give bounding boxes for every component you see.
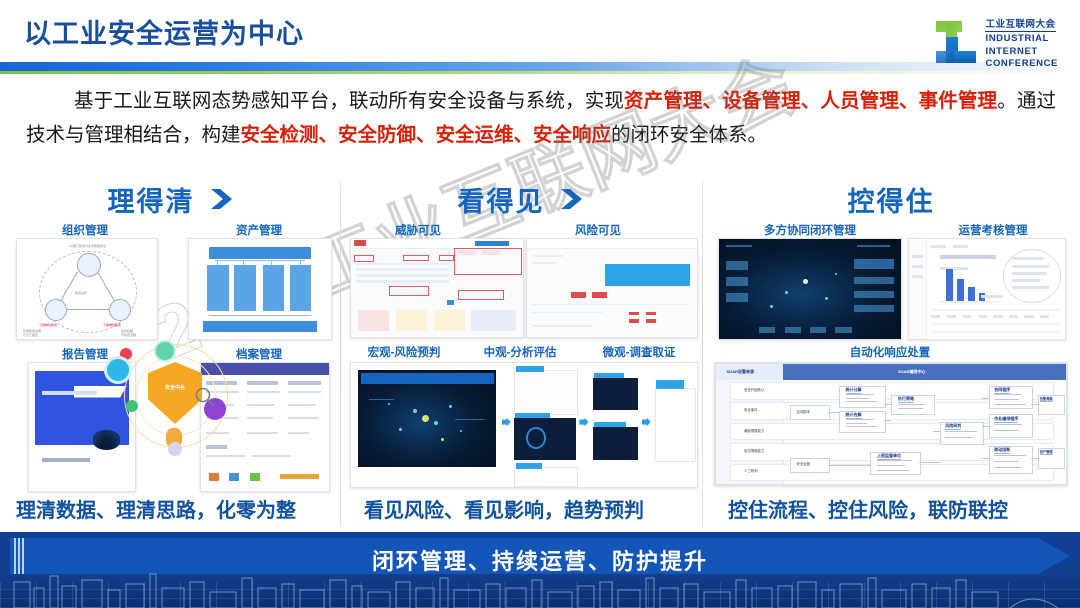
shot-situation-map	[718, 238, 902, 340]
logo-line-internet: INTERNET	[985, 47, 1058, 57]
column-kongdezhu: 控得住 多方协同闭环管理 运营考核管理	[710, 176, 1072, 532]
column-2-header: 看得见	[348, 176, 698, 222]
label-asset-management: 资产管理	[200, 222, 318, 238]
label-micro-forensics: 微观-调查取证	[584, 344, 694, 360]
bottom-banner: 闭环管理、持续运营、防护提升	[0, 532, 1080, 608]
shot-analysis-flow	[350, 362, 698, 488]
tagline-column-3: 控住流程、控住风险，联防联控	[728, 494, 1008, 523]
lead-text-a: 基于工业互联网态势感知平台，联动所有安全设备与系统，实现	[74, 90, 624, 112]
shot-risk-dashboard	[526, 238, 698, 338]
soar-side-item-4: 攻击情报能力	[744, 448, 764, 453]
label-meso-analysis: 中观-分析评估	[466, 344, 574, 360]
chevron-right-icon	[559, 187, 589, 211]
label-operation-assessment: 运营考核管理	[928, 222, 1058, 238]
soar-node-asset-mgmt: 资产管理	[1040, 449, 1053, 455]
soar-node-strategy: 执行策略	[898, 396, 914, 403]
shot-threat-dashboard	[350, 238, 524, 338]
column-1-content: 组织管理 资产管理 报告管理 档案管理 XX部门职责与业务职能定位	[8, 222, 338, 532]
column-2-content: 威胁可见 风险可见	[348, 222, 698, 532]
chevron-right-icon	[209, 187, 239, 211]
asset-shot-header	[209, 247, 311, 259]
label-multiparty-closed-loop: 多方协同闭环管理	[720, 222, 900, 238]
tagline-column-2: 看见风险、看见影响，趋势预判	[364, 494, 644, 523]
flow-meso-panel-1	[514, 370, 578, 414]
banner-grid-floor	[0, 582, 1080, 608]
soar-node-blocking: 联动阻断	[994, 447, 1010, 454]
flow-evidence-panel	[655, 388, 695, 462]
label-org-management: 组织管理	[26, 222, 144, 238]
tagline-row: 理清数据、理清思路，化零为整 看见风险、看见影响，趋势预判 控住流程、控住风险，…	[0, 494, 1080, 528]
page-title: 以工业安全运营为中心	[24, 12, 304, 51]
column-3-content: 多方协同闭环管理 运营考核管理	[710, 222, 1072, 532]
flow-micro-panel-1	[593, 378, 638, 410]
tagline-divider-1	[340, 492, 341, 524]
logo-title-cn: 工业互联网大会	[985, 20, 1055, 32]
tagline-divider-2	[702, 492, 703, 524]
label-automated-response: 自动化响应处置	[810, 344, 970, 360]
slide-root: 以工业安全运营为中心 工业互联网大会	[0, 0, 1080, 608]
lead-highlight-1: 资产管理、设备管理、人员管理、事件管理	[624, 90, 997, 112]
flow-meso-panel-3	[514, 467, 578, 486]
logo-mark-icon	[934, 17, 978, 67]
soar-side-header: SOAR告警来源	[727, 369, 755, 375]
soar-node-report-regulator: 告警溯源	[1040, 396, 1053, 402]
title-underline-green	[0, 71, 1080, 74]
soar-node-stat-2: 统计合解	[846, 412, 862, 419]
soar-node-start: 启动剧本	[797, 409, 811, 414]
shot-asset-topology	[188, 238, 332, 340]
column-2-title: 看得见	[458, 180, 545, 219]
three-column-area: 理得清 组织管理 资产管理 报告管理 档案管理	[0, 176, 1080, 532]
lead-text-c: 的闭环安全体系。	[611, 124, 767, 146]
column-divider-2	[702, 180, 703, 526]
column-liqingqing: 理得清 组织管理 资产管理 报告管理 档案管理	[8, 176, 338, 532]
lead-highlight-2: 安全检测、安全防御、安全运维、安全响应	[241, 124, 612, 146]
label-threat-visible: 威胁可见	[358, 222, 478, 238]
label-risk-visible: 风险可见	[538, 222, 658, 238]
column-1-header: 理得清	[8, 176, 338, 222]
soar-side-item-1: 安全开始默认	[744, 387, 764, 392]
soar-node-coordination: 协同程序	[994, 387, 1010, 394]
logo-text: 工业互联网大会 INDUSTRIAL INTERNET CONFERENCE	[985, 14, 1058, 69]
soar-side-item-5: 人工研判	[744, 468, 758, 473]
soar-side-item-3: 威胁情报能力	[744, 428, 764, 433]
shot-org-chart: XX部门职责与业务职能定位 下级单位职责 下级单位职责 职责边界 管理职责说明与…	[16, 238, 158, 340]
soar-side-item-2: 安全事件	[744, 407, 758, 412]
security-hub-graphic: 安全中台	[120, 342, 230, 472]
soar-main-header: SOAR编排中心	[898, 369, 926, 375]
shot-soar-orchestration: SOAR告警来源 安全开始默认 安全事件 威胁情报能力 攻击情报能力 人工研判 …	[714, 362, 1068, 486]
flow-macro-panel	[358, 370, 496, 467]
shot-kpi-assessment	[908, 238, 1066, 340]
tagline-column-1: 理清数据、理清思路，化零为整	[16, 494, 296, 523]
soar-node-stat-1: 统计分解	[846, 387, 862, 394]
column-3-title: 控得住	[848, 180, 935, 219]
conference-logo: 工业互联网大会 INDUSTRIAL INTERNET CONFERENCE	[934, 14, 1058, 69]
column-kandejian: 看得见 威胁可见 风险可见	[348, 176, 698, 532]
search-icon	[194, 386, 216, 408]
flow-meso-panel-2	[514, 418, 576, 460]
soar-node-risk-judge: 风险研判	[945, 423, 961, 430]
soar-node-job-orchestration: 作业编排程序	[994, 416, 1018, 423]
logo-line-conference: CONFERENCE	[985, 59, 1058, 69]
column-3-header: 控得住	[710, 176, 1072, 222]
logo-line-industrial: INDUSTRIAL	[985, 34, 1058, 44]
title-underline-blue	[0, 62, 1080, 71]
soar-node-alert-source: 上报监管单位	[877, 453, 901, 460]
soar-node-ops: 安全运营	[797, 461, 811, 466]
label-macro-risk-forecast: 宏观-风险预判	[350, 344, 458, 360]
column-divider-1	[340, 180, 341, 526]
column-1-title: 理得清	[108, 180, 195, 219]
lead-paragraph: 基于工业互联网态势感知平台，联动所有安全设备与系统，实现资产管理、设备管理、人员…	[26, 84, 1056, 152]
flow-micro-panel-2	[593, 427, 638, 459]
